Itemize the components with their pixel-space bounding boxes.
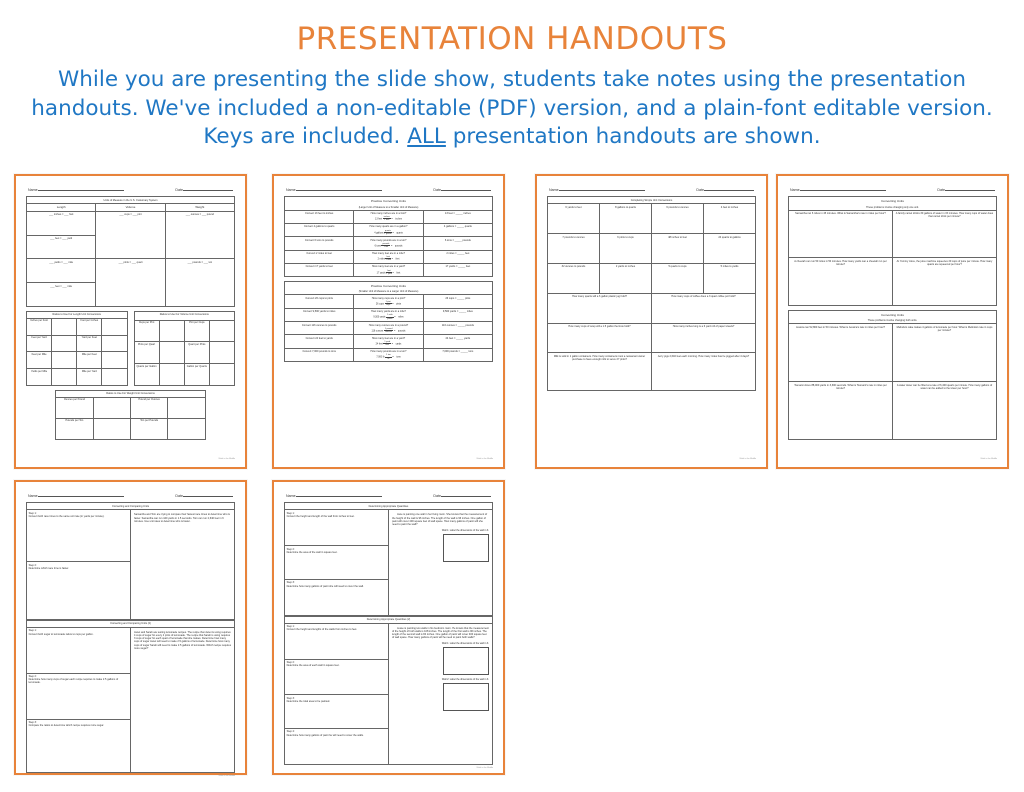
work-cell[interactable]: How many feet are in a mile? 2 miles fee… [354, 250, 423, 263]
date-field[interactable]: Date [433, 185, 491, 192]
answer-cell[interactable]: 13 feet = _____ inches [423, 210, 492, 223]
column-header-volume: Volume [96, 204, 165, 211]
step-cell: Step 1: Convert the height and length of… [285, 510, 389, 546]
date-field[interactable]: Date [175, 491, 233, 498]
table-row: Convert 17 yards to feet How many feet a… [285, 263, 493, 276]
box-label: Wall 2: Label the dimensions of the wall… [392, 678, 489, 681]
problem-cell[interactable]: 6 pints to cups [600, 234, 652, 264]
header: PRESENTATION HANDOUTS While you are pres… [0, 0, 1024, 152]
problem-cell[interactable]: 24 quarts to gallons [704, 234, 756, 264]
task-cell: Convert 116 ounces to pounds [285, 322, 354, 335]
box-label: Wall 1: Label the dimensions of the wall… [392, 529, 489, 532]
converting-comparing-units-table: Converting and Comparing Units Step 1: C… [26, 502, 235, 620]
ratio-cell: Pound per Ounces [130, 398, 167, 419]
work-cell[interactable]: How many pounds are in a ton? 6 tons pou… [354, 237, 423, 250]
answer-cell[interactable]: 6 tons = _____ pounds [423, 237, 492, 250]
word-problem-cell[interactable]: Milk is sold in 1 gallon containers. How… [548, 353, 652, 391]
appropriate-quantities-table: Determining Appropriate Quantities Step … [284, 502, 493, 615]
name-field[interactable]: Name [28, 491, 124, 498]
answer-cell[interactable] [52, 352, 77, 369]
ratio-cell: Quarts per Gallon [134, 364, 159, 386]
ratio-cell: Pints per Quart [134, 342, 159, 364]
step-cell: Step 3: Determine how many gallons of pa… [285, 580, 389, 616]
table-row: Step 1: Convert the height and lengths o… [285, 623, 493, 659]
task-cell: Convert 9,500 yards to miles [285, 308, 354, 321]
section-title-block: Practice Converting Units (Larger Unit o… [285, 197, 493, 210]
name-field[interactable]: Name [286, 491, 382, 498]
section-title: Completing Simple Unit Conversions [548, 197, 756, 204]
answer-cell[interactable] [93, 398, 130, 419]
name-field[interactable]: Name [790, 185, 886, 192]
converting-units-one-unit-table: Converting Units These problems involve … [788, 196, 997, 306]
answer-cell[interactable] [168, 398, 205, 419]
ratio-cell: Inches per Foot [27, 318, 52, 335]
name-date-row: Name Date [26, 185, 235, 192]
table-row: Step 1: Convert both sugar to lemonade r… [27, 627, 235, 673]
task-cell: Convert 4 gallons to quarts [285, 223, 354, 236]
problem-cell[interactable]: A family camel drinks 30 gallons of wate… [893, 210, 997, 258]
ratio-cell: Ounces per Pound [56, 398, 93, 419]
problem-cell[interactable]: A water tower can be filled at a rate of… [893, 382, 997, 440]
weight-ratio-table: Ratios to Use For Weight Unit Conversion… [55, 390, 205, 440]
name-date-row: Name Date [547, 185, 756, 192]
table-row: Step 1: Convert both race times to the s… [27, 510, 235, 562]
table-row: Convert 24 feet to yards How many feet a… [285, 335, 493, 348]
work-cell[interactable]: How many inches are in a foot? 13 feet i… [354, 210, 423, 223]
answer-cell[interactable] [102, 352, 127, 369]
answer-cell[interactable] [52, 335, 77, 352]
section-title-block: Practice Converting Units (Smaller Unit … [285, 282, 493, 295]
ratio-cell: Cups per Pint [134, 320, 159, 342]
name-field[interactable]: Name [286, 185, 382, 192]
section-title: Practice Converting Units [285, 283, 492, 290]
word-problem-cell[interactable]: How many cups of coffee does a 3 quart c… [652, 293, 756, 323]
step-cell: Step 2: Determine how many cups of sugar… [27, 673, 131, 719]
practice-larger-to-smaller-table: Practice Converting Units (Larger Unit o… [284, 196, 493, 277]
length-cell: ___ feet = ___ mile [27, 283, 96, 307]
step-cell: Step 4: Determine how many gallons of pa… [285, 729, 389, 765]
description-line-3: Keys are included. ALL presentation hand… [20, 123, 1005, 152]
section-title-block: Converting Units These problems involve … [789, 311, 997, 324]
section-title: Converting and Comparing Units (2) [27, 621, 235, 628]
problem-text: Jane is painting one wall in her living … [392, 513, 489, 526]
description-line-3c: presentation handouts are shown. [446, 124, 821, 149]
table-row: How many quarts will a 6 gallon plastic … [548, 293, 756, 323]
ratio-cell: Yard per Feet [77, 335, 102, 352]
table-row: Tsunami drove 88,000 yards in 3,300 seco… [789, 382, 997, 440]
copyright-footer: Math in the Middle [26, 456, 235, 461]
weight-cell: ___ pounds = ___ ton [165, 259, 234, 307]
answer-cell[interactable] [102, 369, 127, 386]
copyright-footer: Math in the Middle [547, 456, 756, 461]
answer-cell[interactable] [52, 369, 77, 386]
handout-page-2[interactable]: Name Date Practice Converting Units (Lar… [272, 174, 505, 469]
volume-cell: ___ pints = ___ quart [96, 259, 165, 307]
problem-cell[interactable]: Tsunami drove 88,000 yards in 3,300 seco… [789, 382, 893, 440]
answer-cell[interactable] [159, 320, 184, 342]
problem-cell[interactable]: Jesse is painting two walls in his bedro… [389, 623, 493, 764]
problem-cell[interactable]: 4 feet to inches [704, 204, 756, 234]
table-row: How many cups of soup will a 1.5 gallon … [548, 323, 756, 353]
problem-cell[interactable]: Samantha and Tom are trying to compare t… [131, 510, 235, 620]
section-subtitle: (Smaller Unit of Measure to a Larger Uni… [285, 290, 492, 293]
step-cell: Step 3: Determine the total area to be p… [285, 695, 389, 729]
ratio-cell: Quart per Pints [184, 342, 209, 364]
task-cell: Convert 26 cups to pints [285, 295, 354, 308]
copyright-footer: Math in the Middle [284, 765, 493, 770]
copyright-footer: Math in the Middle [284, 456, 493, 461]
problem-cell[interactable]: A cheetah can run 50 miles in 50 minutes… [789, 258, 893, 306]
table-row: Jessica ran 52,800 feet in 50 minutes. W… [789, 324, 997, 382]
problem-cell[interactable]: 32 ounces to pounds [548, 264, 600, 294]
answer-cell[interactable] [159, 342, 184, 364]
answer-cell[interactable] [102, 335, 127, 352]
problem-cell[interactable]: 7 pounds to ounces [548, 234, 600, 264]
section-subtitle: (Larger Unit of Measure to a Smaller Uni… [285, 206, 492, 209]
description-line-3a: Keys are included. [203, 124, 407, 149]
problem-cell[interactable]: Melinda's cake makes 4 gallons of lemona… [893, 324, 997, 382]
weight-cell: ___ ounces = ___ pound [165, 211, 234, 259]
simple-conversions-table: Completing Simple Unit Conversions 6 yar… [547, 196, 756, 391]
task-cell: Convert 13 feet to inches [285, 210, 354, 223]
answer-cell[interactable] [93, 418, 130, 439]
name-date-row: Name Date [788, 185, 997, 192]
answer-cell[interactable]: 2 miles = _____ feet [423, 250, 492, 263]
table-row: Samantha ran 6 miles in 45 minutes. What… [789, 210, 997, 258]
work-cell[interactable]: How many feet are in a yard? 17 yards fe… [354, 263, 423, 276]
section-subtitle: These problems involve changing only one… [789, 206, 996, 209]
ratio-cell: Mile per Feet [77, 352, 102, 369]
answer-cell[interactable] [52, 318, 77, 335]
ratio-weight-title: Ratios to Use For Weight Unit Conversion… [56, 391, 205, 398]
word-problem-cell[interactable]: How many quarts will a 6 gallon plastic … [548, 293, 652, 323]
table-row: 7 pounds to ounces 6 pints to cups 48 in… [548, 234, 756, 264]
handout-page-6[interactable]: Name Date Determining Appropriate Quanti… [272, 480, 505, 775]
problem-cell[interactable]: 48 inches to feet [652, 234, 704, 264]
answer-cell[interactable]: 17 yards = _____ feet [423, 263, 492, 276]
date-field[interactable]: Date [433, 491, 491, 498]
work-cell[interactable]: How many cups are in a pint? 26 cups 1 p… [354, 295, 423, 308]
problem-cell[interactable]: 6 yards to feet [548, 204, 600, 234]
step-cell: Step 1: Convert the height and lengths o… [285, 623, 389, 659]
handout-page-4[interactable]: Name Date Converting Units These problem… [776, 174, 1009, 469]
copyright-footer: Math in the Middle [788, 456, 997, 461]
table-row: 6 yards to feet 8 gallons to quarts 6 po… [548, 204, 756, 234]
problem-cell[interactable]: At Yummy Juice, the juice machine squeez… [893, 258, 997, 306]
answer-cell[interactable]: 4 gallons = _____ quarts [423, 223, 492, 236]
length-cell: ___ feet = ___ yard [27, 235, 96, 259]
answer-cell[interactable]: 9,500 yards = _____ miles [423, 308, 492, 321]
problem-cell[interactable]: Samantha ran 6 miles in 45 minutes. What… [789, 210, 893, 258]
problem-cell[interactable]: 5 quarts to cups [652, 264, 704, 294]
work-cell[interactable]: How many ounces are in a pound? 116 ounc… [354, 322, 423, 335]
step-cell: Step 2: Determine the area of each wall … [285, 659, 389, 695]
section-title: Converting and Comparing Units [27, 503, 235, 510]
ratio-cell: Gallon per Quarts [184, 364, 209, 386]
wall-diagram-box-1[interactable] [443, 647, 489, 675]
problem-cell[interactable]: 2 yards to inches [600, 264, 652, 294]
table-row: A cheetah can run 50 miles in 50 minutes… [789, 258, 997, 306]
ratio-length-title: Ratios to Use For Length Unit Conversion… [27, 311, 128, 318]
section-title: Converting Units [789, 312, 996, 319]
task-cell: Convert 24 feet to yards [285, 335, 354, 348]
work-cell[interactable]: How many yards are in a mile? 9,500 yard… [354, 308, 423, 321]
word-problem-cell[interactable]: How many cups of soup will a 1.5 gallon … [548, 323, 652, 353]
table-row: Convert 13 feet to inches How many inche… [285, 210, 493, 223]
page-description: While you are presenting the slide show,… [20, 66, 1005, 152]
date-field[interactable]: Date [175, 185, 233, 192]
name-field[interactable]: Name [549, 185, 645, 192]
table-row: Milk is sold in 1 gallon containers. How… [548, 353, 756, 391]
answer-cell[interactable]: 26 cups = _____ pints [423, 295, 492, 308]
handout-page-3[interactable]: Name Date Completing Simple Unit Convers… [535, 174, 768, 469]
name-field[interactable]: Name [28, 185, 124, 192]
word-problem-cell[interactable]: How many inches long is a 6 yard roll of… [652, 323, 756, 353]
name-date-row: Name Date [26, 491, 235, 498]
column-header-length: Length [27, 204, 96, 211]
answer-cell[interactable]: 7,000 pounds = _____ tons [423, 348, 492, 361]
answer-cell[interactable] [168, 418, 205, 439]
table-row: Convert 9,500 yards to miles How many ya… [285, 308, 493, 321]
step-cell: Step 1: Convert both race times to the s… [27, 510, 131, 562]
step-cell: Step 1: Convert both sugar to lemonade r… [27, 627, 131, 673]
problem-cell[interactable]: 5 miles to yards [704, 264, 756, 294]
task-cell: Convert 17 yards to feet [285, 263, 354, 276]
length-ratio-table: Ratios to Use For Length Unit Conversion… [26, 311, 128, 386]
word-problem-cell[interactable]: Jerry jogs 2,640 feet each morning. How … [652, 353, 756, 391]
converting-units-both-units-table: Converting Units These problems involve … [788, 310, 997, 440]
ratio-volume-title: Ratios to Use For Volume Unit Conversion… [134, 311, 235, 320]
date-field[interactable]: Date [937, 185, 995, 192]
ratio-cell: Pounds per Ton [56, 418, 93, 439]
table-row: Step 1: Convert the height and length of… [285, 510, 493, 546]
converting-comparing-units-2-table: Converting and Comparing Units (2) Step … [26, 620, 235, 773]
name-date-row: Name Date [284, 491, 493, 498]
answer-cell[interactable] [209, 364, 234, 386]
length-cell: ___ inches = ___ foot [27, 211, 96, 235]
step-cell: Step 3: Compare the ratios to determine … [27, 719, 131, 773]
section-title: Practice Converting Units [285, 198, 492, 205]
work-cell[interactable]: How many quarts are in a gallon? 4 gallo… [354, 223, 423, 236]
description-line-1: While you are presenting the slide show,… [20, 66, 1005, 95]
answer-cell[interactable] [209, 342, 234, 364]
table-row: Convert 116 ounces to pounds How many ou… [285, 322, 493, 335]
handout-page-5[interactable]: Name Date Converting and Comparing Units… [14, 480, 247, 775]
copyright-footer: Math in the Middle [26, 773, 235, 778]
answer-cell[interactable] [159, 364, 184, 386]
problem-text: Jesse is painting two walls in his bedro… [392, 627, 489, 640]
ratio-cell: Pint per Cups [184, 320, 209, 342]
handout-page-1[interactable]: Name Date Units of Measure in the U.S. C… [14, 174, 247, 469]
problem-cell[interactable]: Jane is painting one wall in her living … [389, 510, 493, 615]
table-row: Convert 26 cups to pints How many cups a… [285, 295, 493, 308]
problem-cell[interactable]: 6 pounds to ounces [652, 204, 704, 234]
table-row: Convert 7,000 pounds to tons How many po… [285, 348, 493, 361]
work-cell[interactable]: How many feet are in a yard? 24 feet 1 y… [354, 335, 423, 348]
section-title: Converting Units [789, 198, 996, 205]
ratio-cell: Mile per Yard [77, 369, 102, 386]
section-subtitle: These problems involve changing both uni… [789, 319, 996, 322]
ratio-cell: Feet per Mile [27, 352, 52, 369]
length-cell: ___ yards = ___ mile [27, 259, 96, 283]
date-field[interactable]: Date [696, 185, 754, 192]
appropriate-quantities-2-table: Determining Appropriate Quantities (2) S… [284, 616, 493, 765]
page-title: PRESENTATION HANDOUTS [0, 22, 1024, 56]
step-cell: Step 2: Determine the area of the wall i… [285, 546, 389, 580]
table-row: Convert 2 miles to feet How many feet ar… [285, 250, 493, 263]
ratio-cell: Foot per Inches [77, 318, 102, 335]
box-label: Wall 1: Label the dimensions of the wall… [392, 642, 489, 645]
section-title: Determining Appropriate Quantities (2) [285, 616, 493, 623]
wall-diagram-box-2[interactable] [443, 683, 489, 711]
answer-cell[interactable]: 24 feet = _____ yards [423, 335, 492, 348]
step-cell: Step 2: Determine which race time is fas… [27, 562, 131, 620]
ratio-cell: Ton per Pounds [130, 418, 167, 439]
section-title-block: Converting Units These problems involve … [789, 197, 997, 210]
problem-cell[interactable]: Janet and Sarah are testing lemonade rec… [131, 627, 235, 772]
practice-smaller-to-larger-table: Practice Converting Units (Smaller Unit … [284, 281, 493, 362]
answer-cell[interactable]: 116 ounces = _____ pounds [423, 322, 492, 335]
description-line-2: handouts. We've included a non-editable … [20, 95, 1005, 124]
name-date-row: Name Date [284, 185, 493, 192]
table-row: Convert 6 tons to pounds How many pounds… [285, 237, 493, 250]
ratio-cell: Feet per Yard [27, 335, 52, 352]
table-row: 32 ounces to pounds 2 yards to inches 5 … [548, 264, 756, 294]
table-row: Convert 4 gallons to quarts How many qua… [285, 223, 493, 236]
answer-cell[interactable] [209, 320, 234, 342]
ratio-tables-row: Ratios to Use For Length Unit Conversion… [26, 311, 235, 386]
task-cell: Convert 6 tons to pounds [285, 237, 354, 250]
ratio-cell: Yards per Mile [27, 369, 52, 386]
task-cell: Convert 2 miles to feet [285, 250, 354, 263]
units-of-measure-table: Units of Measure in the U.S. Customary S… [26, 196, 235, 306]
handout-thumbnails: Name Date Units of Measure in the U.S. C… [0, 172, 1024, 792]
table-title: Units of Measure in the U.S. Customary S… [27, 197, 235, 204]
volume-ratio-table: Ratios to Use For Volume Unit Conversion… [134, 311, 236, 386]
column-header-weight: Weight [165, 204, 234, 211]
problem-cell[interactable]: Jessica ran 52,800 feet in 50 minutes. W… [789, 324, 893, 382]
answer-cell[interactable] [102, 318, 127, 335]
work-cell[interactable]: How many pounds are in a ton? 7,000 lb 1… [354, 348, 423, 361]
task-cell: Convert 7,000 pounds to tons [285, 348, 354, 361]
volume-cell: ___ cups = ___ pint [96, 211, 165, 259]
problem-cell[interactable]: 8 gallons to quarts [600, 204, 652, 234]
description-emphasis-all: ALL [407, 124, 446, 149]
wall-diagram-box[interactable] [443, 534, 489, 562]
section-title: Determining Appropriate Quantities [285, 503, 493, 510]
